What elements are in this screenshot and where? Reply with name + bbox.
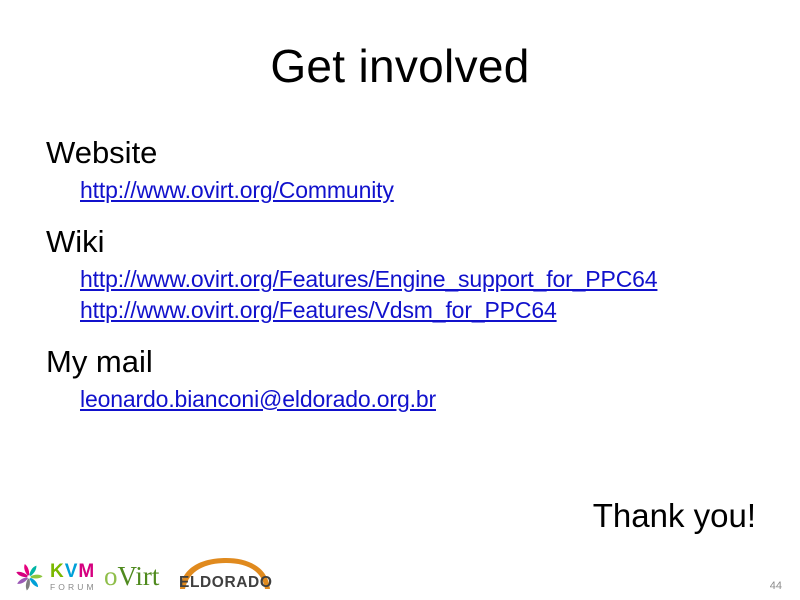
pinwheel-icon <box>12 560 46 594</box>
ovirt-wordmark: Virt <box>118 561 160 591</box>
link-list-my-mail: leonardo.bianconi@eldorado.org.br <box>46 384 766 415</box>
kvm-letter-v: V <box>65 561 79 582</box>
section-heading-website: Website <box>46 133 766 173</box>
kvm-letter-m: M <box>78 561 95 582</box>
list-item: http://www.ovirt.org/Features/Engine_sup… <box>46 264 766 295</box>
page-title: Get involved <box>0 42 800 90</box>
eldorado-logo: ELDORADO ELDORADO <box>176 556 274 592</box>
section-wiki: Wiki http://www.ovirt.org/Features/Engin… <box>46 222 766 325</box>
link-email-address[interactable]: leonardo.bianconi@eldorado.org.br <box>80 386 436 412</box>
kvm-letter-k: K <box>50 561 65 582</box>
kvm-forum-wordmark: KVM FORUM <box>50 562 97 592</box>
slide-body: Website http://www.ovirt.org/Community W… <box>46 133 766 414</box>
ovirt-lead-letter: o <box>104 561 118 591</box>
section-website: Website http://www.ovirt.org/Community <box>46 133 766 205</box>
eldorado-wordmark-text: ELDORADO <box>179 574 273 591</box>
kvm-forum-logo: KVM FORUM <box>12 560 97 594</box>
section-heading-wiki: Wiki <box>46 222 766 262</box>
link-vdsm-for-ppc64[interactable]: http://www.ovirt.org/Features/Vdsm_for_P… <box>80 297 557 323</box>
slide-footer: KVM FORUM oVirt ELDORADO ELDORADO 44 <box>0 544 800 600</box>
kvm-forum-subtitle: FORUM <box>50 583 97 592</box>
closing-text: Thank you! <box>593 497 756 535</box>
page-number: 44 <box>770 580 782 592</box>
link-list-wiki: http://www.ovirt.org/Features/Engine_sup… <box>46 264 766 325</box>
section-heading-my-mail: My mail <box>46 342 766 382</box>
link-engine-support-ppc64[interactable]: http://www.ovirt.org/Features/Engine_sup… <box>80 266 657 292</box>
list-item: leonardo.bianconi@eldorado.org.br <box>46 384 766 415</box>
section-my-mail: My mail leonardo.bianconi@eldorado.org.b… <box>46 342 766 414</box>
ovirt-logo: oVirt <box>104 563 159 590</box>
slide: Get involved Website http://www.ovirt.or… <box>0 0 800 600</box>
list-item: http://www.ovirt.org/Community <box>46 175 766 206</box>
link-ovirt-community[interactable]: http://www.ovirt.org/Community <box>80 177 394 203</box>
list-item: http://www.ovirt.org/Features/Vdsm_for_P… <box>46 295 766 326</box>
link-list-website: http://www.ovirt.org/Community <box>46 175 766 206</box>
